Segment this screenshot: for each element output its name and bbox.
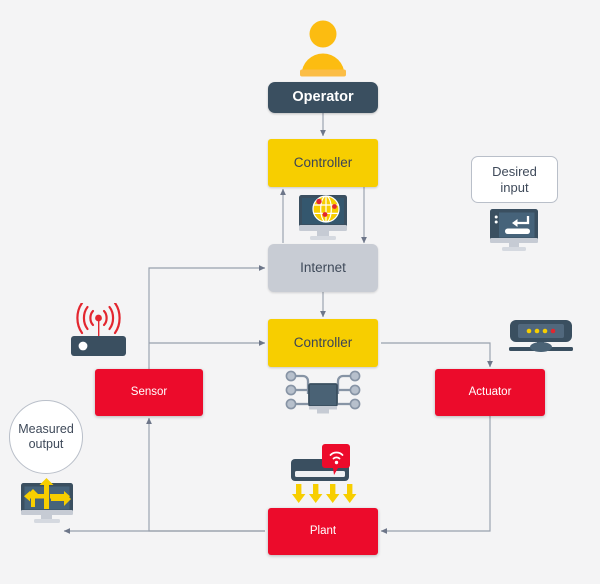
node-actuator[interactable]: Actuator [435,369,545,416]
node-sensor-label: Sensor [131,386,167,400]
node-desired-input[interactable]: Desired input [471,156,558,203]
node-controller-top-label: Controller [294,155,353,171]
node-measured-output-line1: Measured [18,422,74,437]
node-plant-label: Plant [310,525,336,539]
node-measured-output-line2: output [29,437,64,452]
node-controller-top[interactable]: Controller [268,139,378,187]
node-desired-input-line2: input [500,180,528,196]
node-measured-output[interactable]: Measured output [9,400,83,474]
node-sensor[interactable]: Sensor [95,369,203,416]
edge-plant-to-sensor [149,418,265,531]
edge-controller-bottom-to-actuator [381,343,490,367]
edge-sensor-to-internet [149,268,265,369]
node-desired-input-line1: Desired [492,164,537,180]
air-conditioner-wifi-icon [283,443,363,508]
diagram-canvas: Operator Controller Desired input Intern… [0,0,600,584]
output-monitor-arrows-icon [19,477,75,527]
wireless-sensor-icon [66,303,134,363]
node-operator[interactable]: Operator [268,82,378,113]
node-actuator-label: Actuator [469,386,512,400]
microchip-icon [283,367,363,417]
router-icon [508,318,574,358]
input-monitor-icon [488,208,540,254]
node-internet-label: Internet [300,260,346,276]
person-icon [294,18,352,80]
node-controller-bottom[interactable]: Controller [268,319,378,367]
node-controller-bottom-label: Controller [294,335,353,351]
node-plant[interactable]: Plant [268,508,378,555]
edge-actuator-to-plant [381,416,490,531]
node-operator-label: Operator [292,89,353,106]
globe-monitor-icon [293,191,353,243]
node-internet[interactable]: Internet [268,244,378,292]
